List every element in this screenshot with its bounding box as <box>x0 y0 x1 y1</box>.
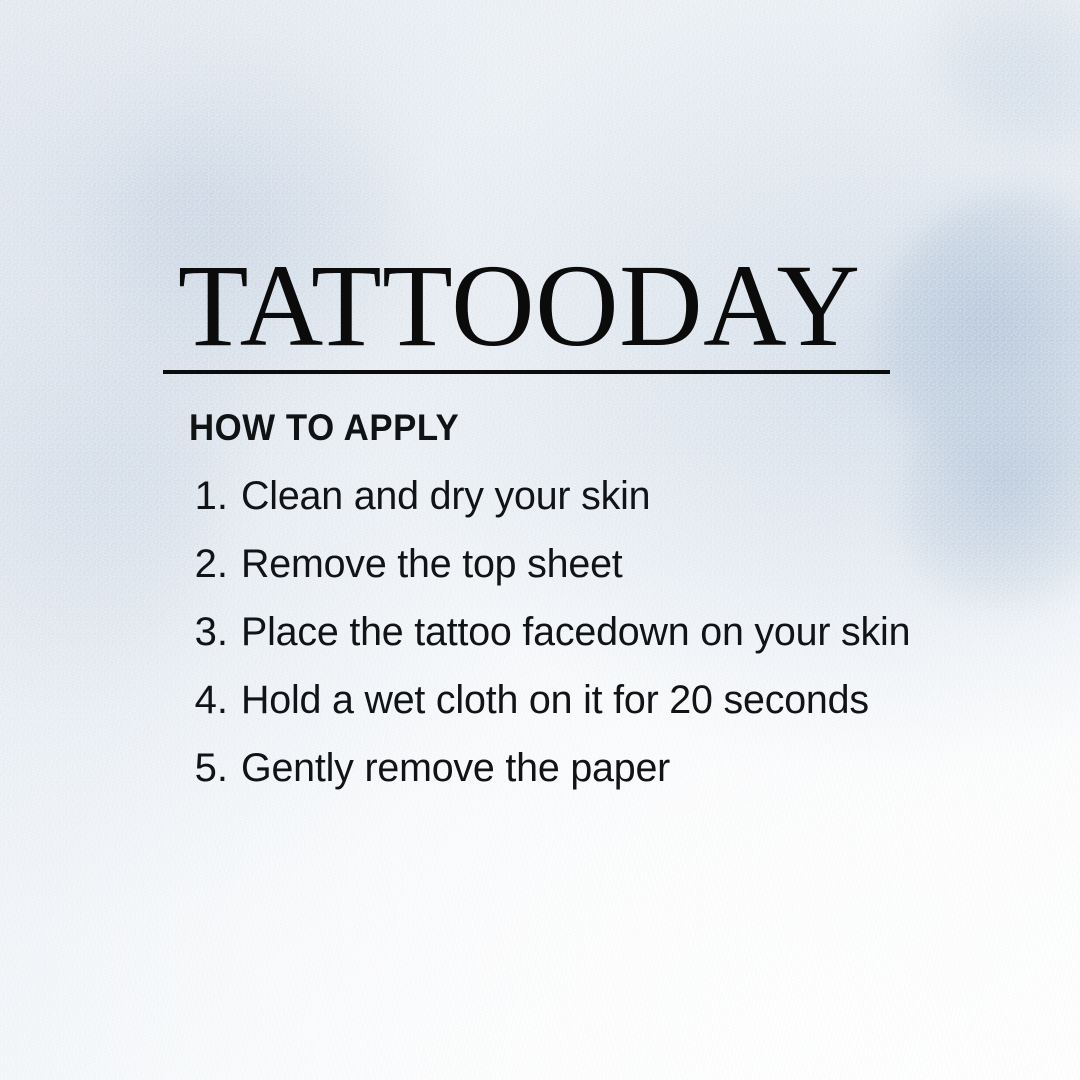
step-number: 2. <box>186 530 228 598</box>
poster-canvas: TATTOODAY HOW TO APPLY 1. Clean and dry … <box>0 0 1080 1080</box>
list-item: 3. Place the tattoo facedown on your ski… <box>186 598 1006 666</box>
instruction-steps-list: 1. Clean and dry your skin 2. Remove the… <box>186 462 1006 802</box>
step-number: 5. <box>186 734 228 802</box>
step-number: 4. <box>186 666 228 734</box>
poster-content: TATTOODAY HOW TO APPLY 1. Clean and dry … <box>0 0 1080 1080</box>
step-text: Remove the top sheet <box>241 530 623 598</box>
section-heading: HOW TO APPLY <box>189 409 459 446</box>
step-text: Place the tattoo facedown on your skin <box>241 598 910 666</box>
step-text: Hold a wet cloth on it for 20 seconds <box>241 666 869 734</box>
step-number: 1. <box>186 462 228 530</box>
list-item: 4. Hold a wet cloth on it for 20 seconds <box>186 666 1006 734</box>
step-number: 3. <box>186 598 228 666</box>
brand-title: TATTOODAY <box>163 244 875 356</box>
list-item: 5. Gently remove the paper <box>186 734 1006 802</box>
step-text: Clean and dry your skin <box>241 462 650 530</box>
list-item: 2. Remove the top sheet <box>186 530 1006 598</box>
step-text: Gently remove the paper <box>241 734 670 802</box>
list-item: 1. Clean and dry your skin <box>186 462 1006 530</box>
title-divider-rule <box>163 370 890 374</box>
